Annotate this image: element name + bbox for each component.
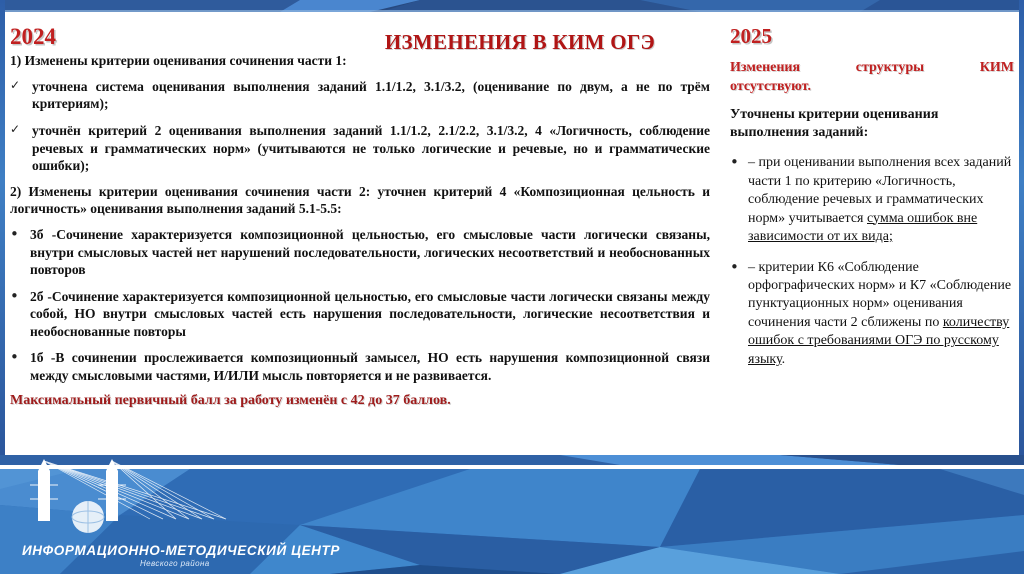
criteria-refined-heading: Уточнены критерии оценивания выполнения … xyxy=(730,106,1014,142)
footer-logo: ИНФОРМАЦИОННО-МЕТОДИЧЕСКИЙ ЦЕНТР Невског… xyxy=(22,543,340,568)
check-icon: ✓ xyxy=(10,122,32,138)
list-item-label: – при оценивании выполнения всех заданий… xyxy=(748,154,1014,246)
max-score-note: Максимальный первичный балл за работу из… xyxy=(10,393,710,409)
structure-unchanged-note: Изменения структуры КИМ отсутствуют. xyxy=(730,59,1014,97)
list-item-label: уточнён критерий 2 оценивания выполнения… xyxy=(32,122,710,174)
structure-unchanged-line2: отсутствуют. xyxy=(730,78,1014,97)
year-label-2024: 2024 xyxy=(10,24,710,50)
list-item: • 1б -В сочинении прослеживается компози… xyxy=(10,349,710,384)
bullet-icon: • xyxy=(10,349,30,366)
list-item: ✓ уточнена система оценивания выполнения… xyxy=(10,78,710,113)
column-2024: 2024 1) Изменены критерии оценивания соч… xyxy=(10,24,710,409)
list-item: • 2б -Сочинение характеризуется композиц… xyxy=(10,288,710,341)
list-item-label: 3б -Сочинение характеризуется композицио… xyxy=(30,226,710,279)
slide-content: ИЗМЕНЕНИЯ В КИМ ОГЭ 2024 1) Изменены кри… xyxy=(0,12,1024,455)
organization-name: ИНФОРМАЦИОННО-МЕТОДИЧЕСКИЙ ЦЕНТР xyxy=(22,543,340,558)
list-item: • – критерии К6 «Соблюдение орфографичес… xyxy=(730,259,1014,370)
structure-unchanged-line1: Изменения структуры КИМ xyxy=(730,59,1014,78)
organization-district: Невского района xyxy=(140,559,210,568)
list-item: ✓ уточнён критерий 2 оценивания выполнен… xyxy=(10,122,710,174)
bridge-logo-icon xyxy=(0,455,230,533)
bullet-icon: • xyxy=(10,288,30,305)
left-section2-text: 2) Изменены критерии оценивания сочинени… xyxy=(10,184,710,218)
list-item: • – при оценивании выполнения всех задан… xyxy=(730,154,1014,246)
slide-root: ИЗМЕНЕНИЯ В КИМ ОГЭ 2024 1) Изменены кри… xyxy=(0,0,1024,574)
list-item-label: 1б -В сочинении прослеживается композици… xyxy=(30,349,710,384)
check-icon: ✓ xyxy=(10,78,32,94)
list-item-label: уточнена система оценивания выполнения з… xyxy=(32,78,710,113)
top-decoration-strip xyxy=(0,0,1024,12)
footer-banner: ИНФОРМАЦИОННО-МЕТОДИЧЕСКИЙ ЦЕНТР Невског… xyxy=(0,455,1024,574)
list-item-label: – критерии К6 «Соблюдение орфографически… xyxy=(748,259,1014,370)
year-label-2025: 2025 xyxy=(730,24,1014,49)
list-item: • 3б -Сочинение характеризуется композиц… xyxy=(10,226,710,279)
bullet-icon: • xyxy=(730,259,748,276)
list-item-label: 2б -Сочинение характеризуется композицио… xyxy=(30,288,710,341)
bullet-icon: • xyxy=(10,226,30,243)
bullet-icon: • xyxy=(730,154,748,171)
list-item-trailing-text: . xyxy=(782,352,786,367)
left-intro-text: 1) Изменены критерии оценивания сочинени… xyxy=(10,53,710,70)
column-2025: 2025 Изменения структуры КИМ отсутствуют… xyxy=(730,24,1014,381)
